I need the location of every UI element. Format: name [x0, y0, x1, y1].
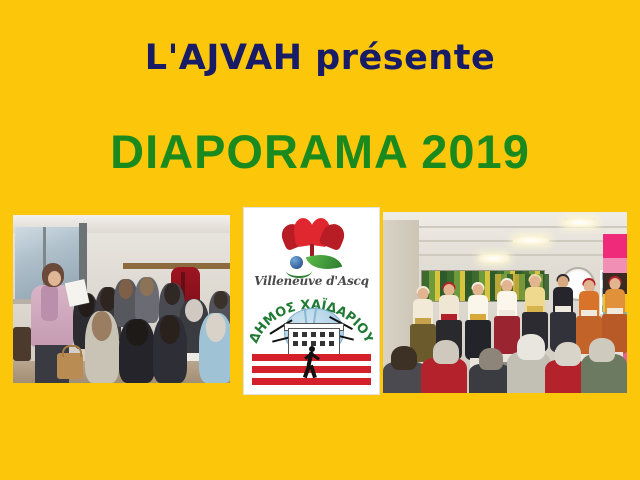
audience-member-head — [433, 340, 459, 364]
photo-folk-dance — [383, 212, 627, 393]
audience-member-head — [517, 334, 545, 360]
audience-member-head — [479, 348, 503, 370]
chair — [13, 327, 31, 361]
photo-meeting-room — [13, 215, 230, 383]
handbag — [57, 353, 83, 379]
ceiling-light — [563, 218, 597, 227]
page-title: L'AJVAH présente — [0, 38, 640, 78]
ceiling-light — [479, 254, 509, 263]
presentation-slide: L'AJVAH présente DIAPORAMA 2019 — [0, 0, 640, 480]
runner-figure-icon — [302, 346, 320, 380]
logo-panel: Villeneuve d'Ascq ΔΗΜΟΣ ΧΑΪΔΑΡΙΟΥ — [243, 207, 380, 395]
ceiling-line — [419, 254, 627, 256]
seated-person — [135, 277, 159, 323]
poppy-stem — [310, 244, 314, 256]
villeneuve-dascq-label: Villeneuve d'Ascq — [244, 274, 379, 288]
audience-member-head — [391, 346, 417, 370]
chaidari-municipality-emblem: ΔΗΜΟΣ ΧΑΪΔΑΡΙΟΥ — [250, 292, 373, 390]
ceiling-light — [513, 236, 549, 245]
audience-member-head — [589, 338, 615, 362]
slide-subtitle: DIAPORAMA 2019 — [0, 124, 640, 179]
seated-person — [119, 319, 155, 383]
seated-person — [85, 311, 119, 383]
standing-woman-scarf — [41, 285, 58, 321]
audience-member-head — [555, 342, 581, 366]
standing-woman-face — [48, 271, 61, 286]
seated-person — [153, 315, 187, 383]
seated-person — [199, 313, 230, 383]
